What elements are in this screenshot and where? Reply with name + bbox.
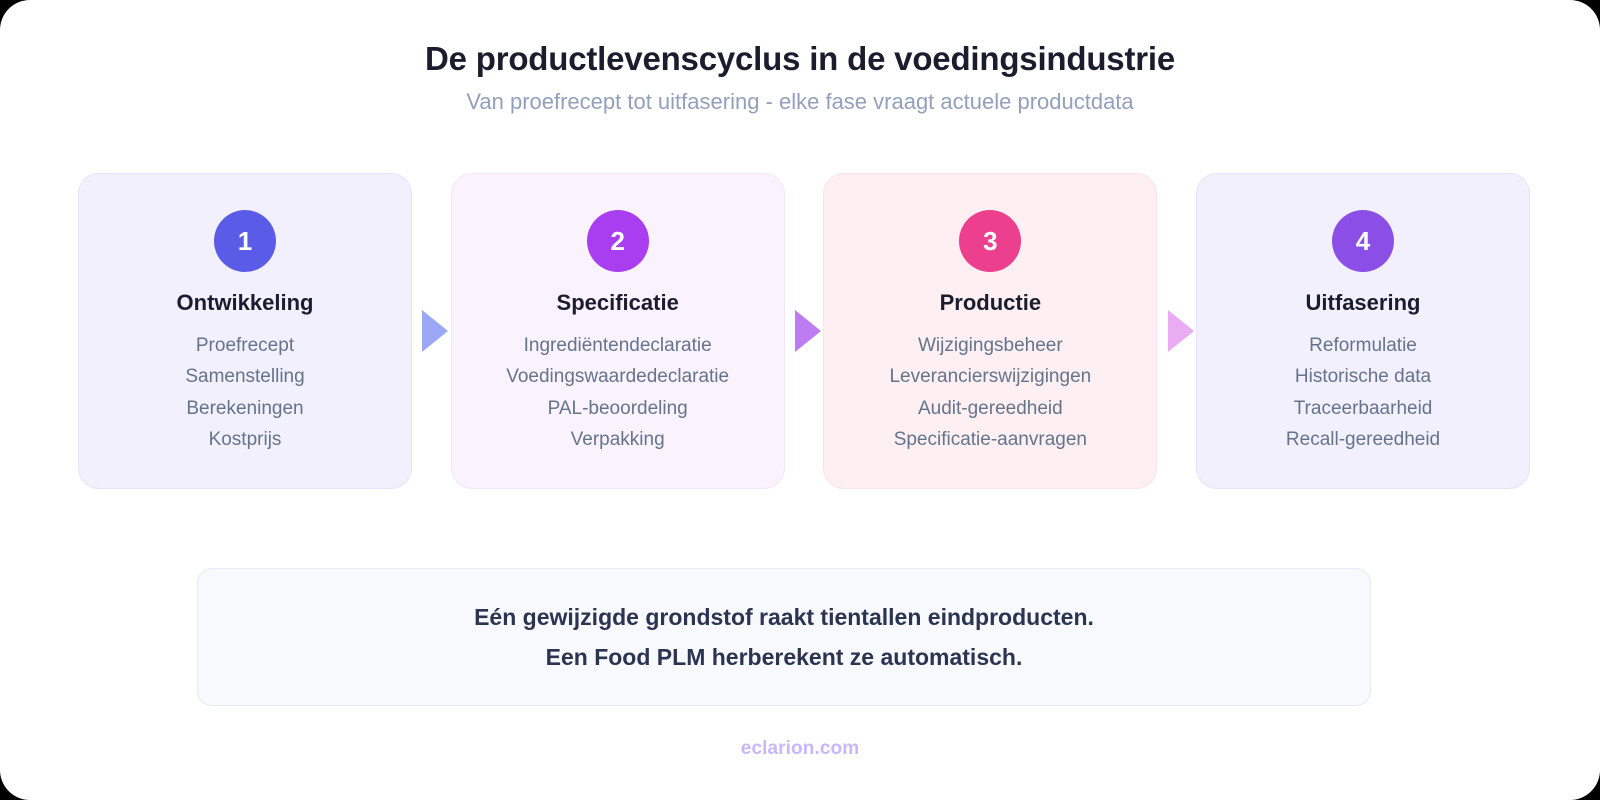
list-item: Traceerbaarheid (1286, 393, 1440, 425)
stage-card-specificatie[interactable]: 2 Specificatie Ingrediëntendeclaratie Vo… (451, 173, 785, 489)
stage-item-list-4: Reformulatie Historische data Traceerbaa… (1286, 330, 1440, 456)
stage-title-3: Productie (940, 289, 1041, 317)
list-item: Recall-gereedheid (1286, 424, 1440, 456)
stage-card-uitfasering[interactable]: 4 Uitfasering Reformulatie Historische d… (1196, 173, 1530, 489)
stage-number-badge-3: 3 (959, 210, 1021, 272)
stage-card-productie[interactable]: 3 Productie Wijzigingsbeheer Leverancier… (823, 173, 1157, 489)
stage-card-ontwikkeling[interactable]: 1 Ontwikkeling Proefrecept Samenstelling… (78, 173, 412, 489)
list-item: Berekeningen (185, 393, 304, 425)
list-item: Proefrecept (185, 330, 304, 362)
stage-number-badge-4: 4 (1332, 210, 1394, 272)
list-item: Leverancierswijzigingen (889, 361, 1091, 393)
callout-line-1: Eén gewijzigde grondstof raakt tientalle… (474, 597, 1094, 637)
stage-item-list-3: Wijzigingsbeheer Leverancierswijzigingen… (889, 330, 1091, 456)
page-subtitle: Van proefrecept tot uitfasering - elke f… (0, 88, 1600, 117)
footer-website-link[interactable]: eclarion.com (741, 738, 859, 759)
arrow-right-icon (422, 310, 448, 352)
flow-arrow-2 (785, 173, 824, 489)
list-item: Voedingswaardedeclaratie (506, 361, 729, 393)
list-item: Kostprijs (185, 424, 304, 456)
list-item: Ingrediëntendeclaratie (506, 330, 729, 362)
callout-line-2: Een Food PLM herberekent ze automatisch. (546, 637, 1023, 677)
list-item: Specificatie-aanvragen (889, 424, 1091, 456)
summary-callout: Eén gewijzigde grondstof raakt tientalle… (197, 568, 1371, 706)
list-item: Reformulatie (1286, 330, 1440, 362)
list-item: Audit-gereedheid (889, 393, 1091, 425)
list-item: Samenstelling (185, 361, 304, 393)
stage-title-2: Specificatie (557, 289, 679, 317)
infographic-canvas: De productlevenscyclus in de voedingsind… (0, 0, 1600, 800)
page-title: De productlevenscyclus in de voedingsind… (0, 38, 1600, 79)
header: De productlevenscyclus in de voedingsind… (0, 0, 1600, 117)
flow-arrow-3 (1157, 173, 1196, 489)
lifecycle-flow: 1 Ontwikkeling Proefrecept Samenstelling… (78, 173, 1530, 489)
flow-arrow-1 (412, 173, 451, 489)
stage-number-badge-1: 1 (214, 210, 276, 272)
stage-title-1: Ontwikkeling (177, 289, 314, 317)
list-item: Wijzigingsbeheer (889, 330, 1091, 362)
stage-number-badge-2: 2 (587, 210, 649, 272)
arrow-right-icon (1168, 310, 1194, 352)
stage-item-list-1: Proefrecept Samenstelling Berekeningen K… (185, 330, 304, 456)
list-item: Historische data (1286, 361, 1440, 393)
arrow-right-icon (795, 310, 821, 352)
list-item: PAL-beoordeling (506, 393, 729, 425)
stage-item-list-2: Ingrediëntendeclaratie Voedingswaardedec… (506, 330, 729, 456)
footer: eclarion.com (0, 738, 1600, 760)
stage-title-4: Uitfasering (1306, 289, 1421, 317)
list-item: Verpakking (506, 424, 729, 456)
